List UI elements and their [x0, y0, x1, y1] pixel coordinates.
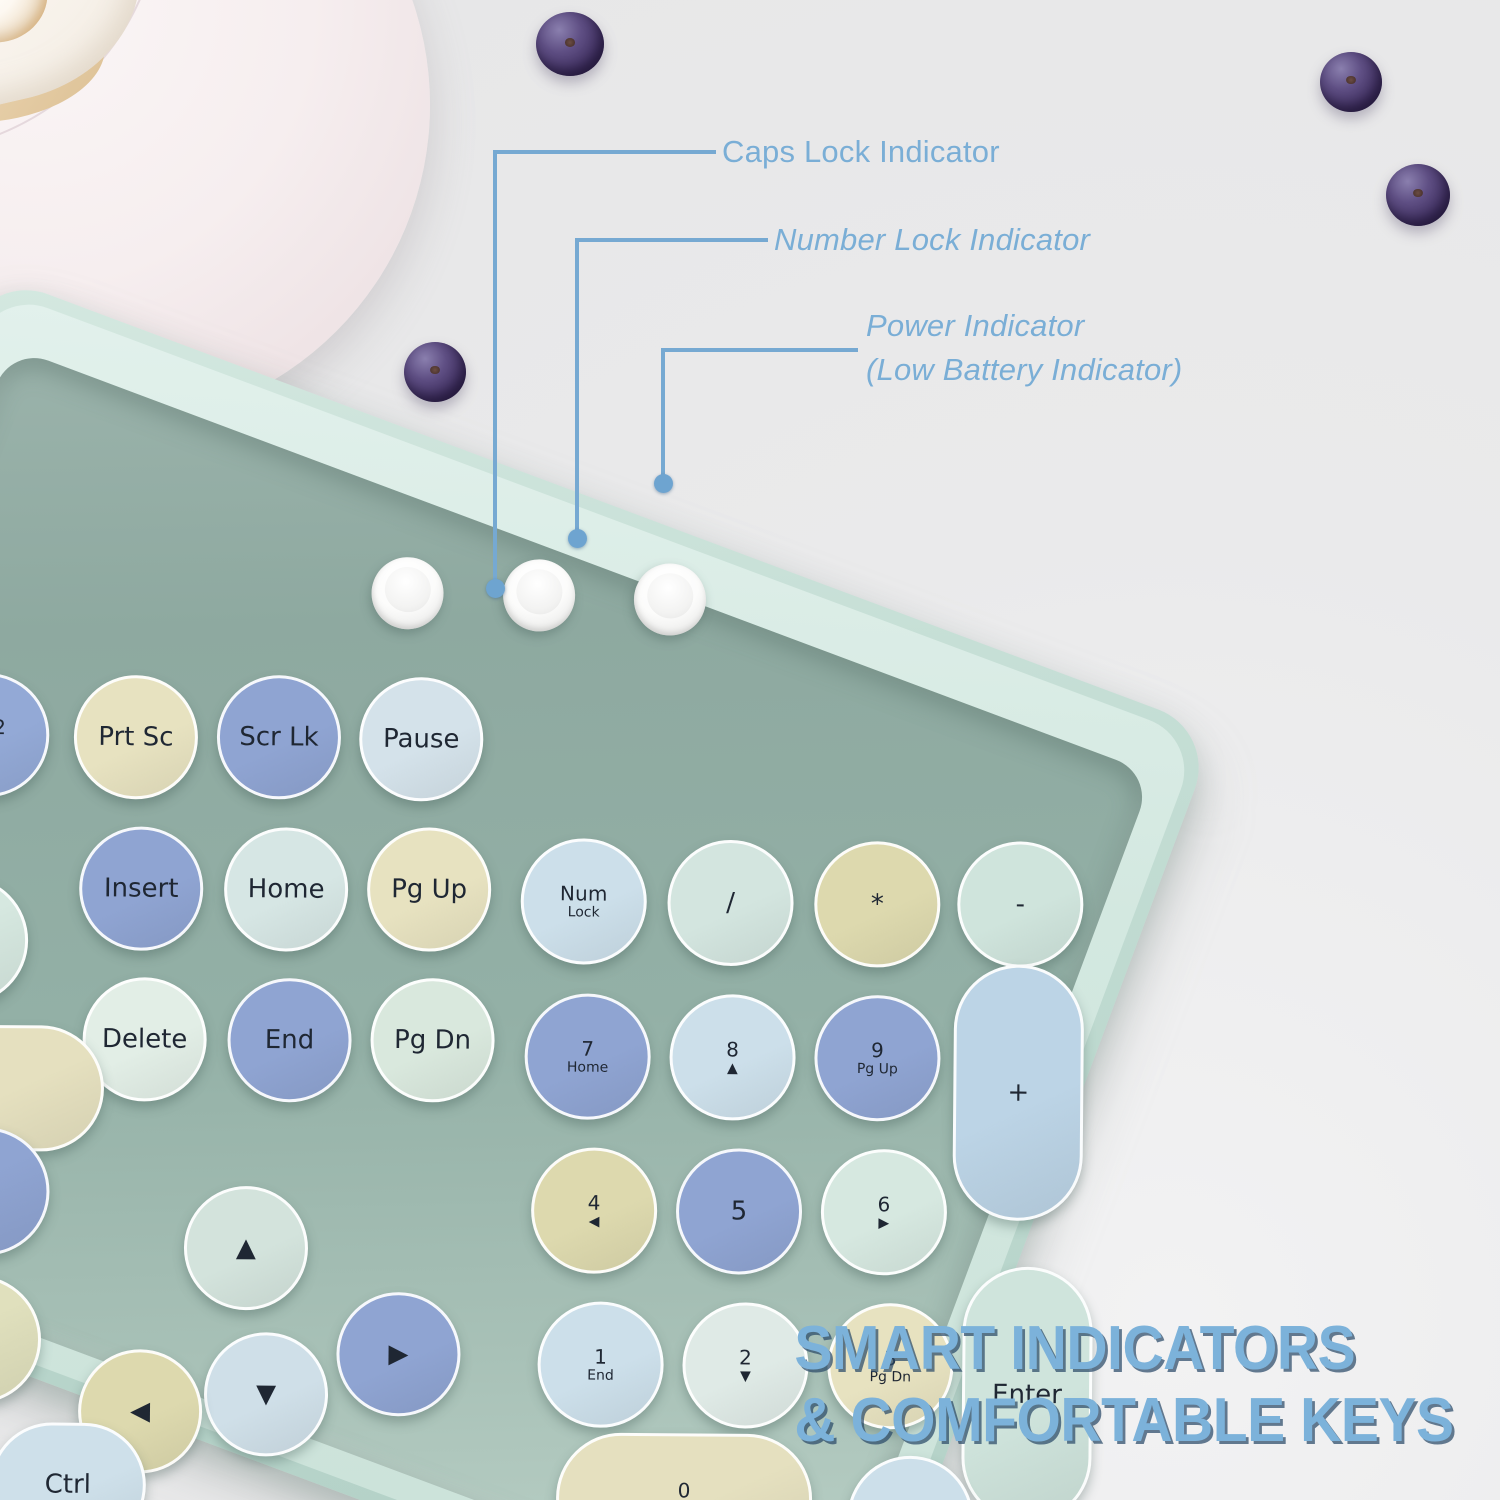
keycap-primary-label: F12	[0, 717, 6, 738]
keycap-primary-label: Insert	[104, 875, 179, 902]
keycap-primary-label: 7	[581, 1038, 594, 1059]
keycap-primary-label: Prt Sc	[98, 724, 173, 751]
keycap-primary-label: 5	[731, 1198, 748, 1225]
keycap[interactable]: -	[957, 841, 1084, 968]
keycap-primary-label: Delete	[102, 1026, 188, 1053]
keycap[interactable]: Insert	[79, 826, 204, 951]
blueberry	[536, 12, 604, 76]
keycap-primary-label: +	[1007, 1079, 1029, 1106]
keycap[interactable]: 0Ins	[556, 1432, 813, 1500]
keycap-primary-label: -	[1016, 891, 1026, 918]
product-photo-scene: F11⌨F12⎙Prt ScScr LkPauseInsertHomePg Up…	[0, 0, 1500, 1500]
blueberry	[404, 342, 466, 402]
keycap[interactable]: 9Pg Up	[814, 995, 941, 1122]
callout-dot-num-lock	[568, 529, 587, 548]
keycap-primary-label: Home	[248, 876, 325, 903]
keycap-secondary-label: End	[587, 1369, 614, 1383]
keycap-primary-label: Scr Lk	[239, 724, 319, 751]
keycap[interactable]: NumLock	[520, 838, 647, 965]
keycap[interactable]: Pg Up	[367, 827, 492, 952]
keycap-primary-label: Ctrl	[45, 1471, 91, 1498]
keycap[interactable]: ▼	[203, 1332, 328, 1457]
keycap[interactable]: +	[952, 964, 1084, 1221]
keycap-primary-label: 2	[739, 1347, 752, 1368]
keycap-primary-label: 4	[588, 1192, 601, 1213]
keycap-primary-label: Pg Up	[391, 876, 467, 903]
headline-line-1: SMART INDICATORS	[795, 1313, 1454, 1386]
keycap[interactable]: End	[227, 978, 352, 1103]
keycap-primary-label: ▼	[256, 1381, 276, 1408]
callout-label-power: Power Indicator	[866, 308, 1084, 344]
keycap[interactable]: Scr Lk	[216, 675, 341, 800]
keycap[interactable]: 4◀	[531, 1147, 658, 1274]
keycap[interactable]: 5	[675, 1148, 802, 1275]
keycap[interactable]: ▲	[183, 1186, 308, 1311]
callout-label-num-lock: Number Lock Indicator	[774, 222, 1090, 258]
keycap[interactable]: Pause	[359, 677, 484, 802]
headline: SMART INDICATORS & COMFORTABLE KEYS	[795, 1313, 1454, 1458]
keycap[interactable]: 8▲	[669, 994, 796, 1121]
keycap-primary-label: Num	[560, 883, 608, 904]
keycap[interactable]: 1End	[537, 1301, 664, 1428]
keycap-secondary-label: ▼	[740, 1369, 751, 1383]
keycap[interactable]: ▶	[336, 1292, 461, 1417]
headline-line-2: & COMFORTABLE KEYS	[795, 1385, 1454, 1458]
keycap[interactable]: Pg Dn	[370, 978, 495, 1103]
keycap[interactable]: 2▼	[682, 1302, 809, 1429]
keycap[interactable]: *	[814, 841, 941, 968]
keycap-secondary-label: Home	[567, 1061, 608, 1076]
blueberry	[1386, 164, 1450, 226]
keycap-primary-label: /	[726, 890, 735, 917]
callout-label-power-secondary: (Low Battery Indicator)	[866, 352, 1182, 388]
keycap[interactable]: 7Home	[524, 993, 651, 1120]
keycap[interactable]: /	[667, 839, 794, 966]
keycap-primary-label: 8	[726, 1039, 739, 1060]
keycap[interactable]: Home	[224, 827, 349, 952]
keycap-primary-label: *	[871, 891, 884, 918]
keycap-primary-label: 9	[871, 1040, 884, 1061]
keycap-primary-label: ▶	[388, 1341, 408, 1368]
keycap-primary-label: 6	[877, 1194, 890, 1215]
keycap-secondary-label: ◀	[589, 1215, 600, 1229]
keycap-primary-label: End	[265, 1027, 315, 1054]
callout-dot-caps-lock	[486, 579, 505, 598]
keycap-primary-label: Pause	[383, 726, 460, 753]
keycap-primary-label: ◀	[130, 1398, 150, 1425]
callout-label-caps-lock: Caps Lock Indicator	[722, 134, 1000, 170]
keycap-secondary-label: ▲	[727, 1061, 738, 1075]
blueberry	[1320, 52, 1382, 112]
keycap-secondary-label: ▶	[878, 1216, 889, 1230]
keycap-primary-label: 0	[678, 1480, 691, 1500]
keycap-secondary-label: Pg Up	[857, 1062, 898, 1077]
keycap-primary-label: 1	[594, 1346, 607, 1367]
callout-dot-power	[654, 474, 673, 493]
keycap[interactable]: Prt Sc	[73, 675, 198, 800]
keycap-primary-label: ▲	[236, 1235, 256, 1262]
keycap[interactable]: 6▶	[820, 1149, 947, 1276]
keycap-primary-label: Pg Dn	[394, 1027, 471, 1054]
keycap-secondary-label: Lock	[568, 905, 600, 920]
